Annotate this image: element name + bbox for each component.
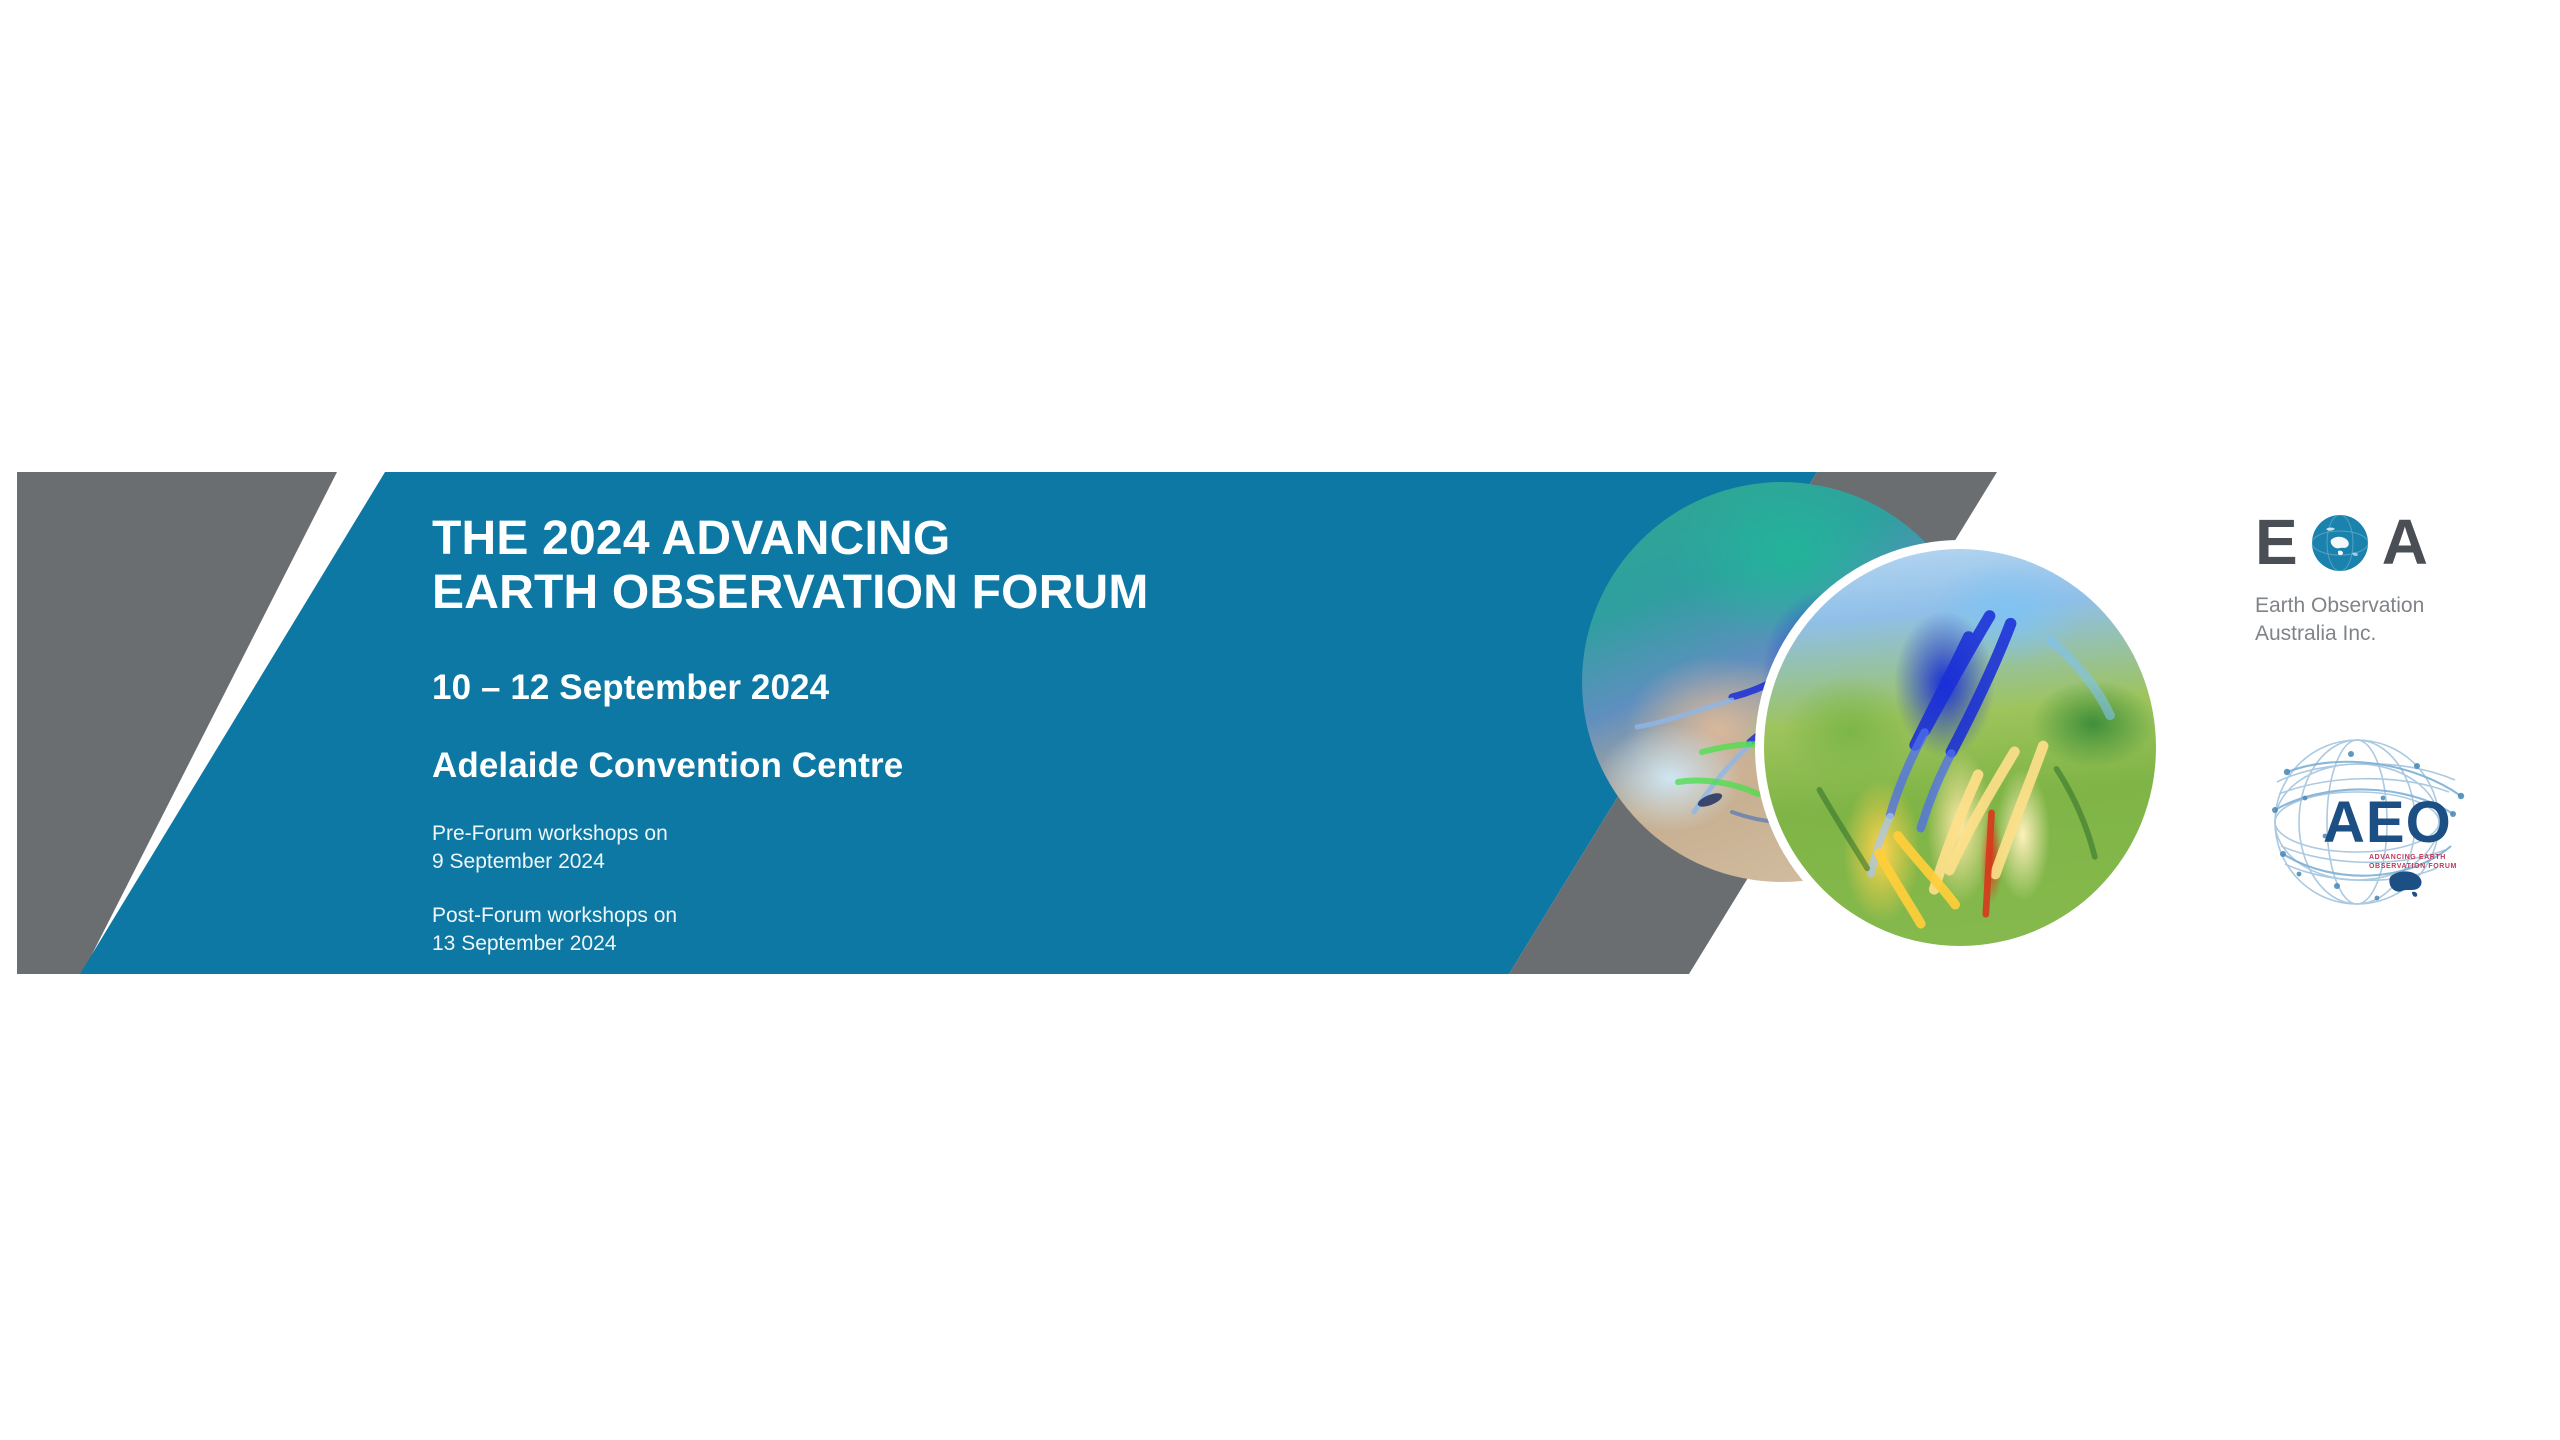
eoa-letter-a: A (2382, 514, 2428, 572)
aeo-wordmark: AEO (2323, 794, 2452, 852)
satellite-image-circle-front (1755, 540, 2165, 955)
globe-australia-icon (2312, 515, 2368, 571)
event-banner: THE 2024 ADVANCING EARTH OBSERVATION FOR… (17, 472, 2560, 974)
eoa-wordmark: E A (2255, 512, 2505, 574)
australia-shape-icon (2389, 871, 2421, 896)
event-venue: Adelaide Convention Centre (432, 708, 1332, 786)
post-forum-workshops: Post-Forum workshops on 13 September 202… (432, 876, 1332, 957)
event-title: THE 2024 ADVANCING EARTH OBSERVATION FOR… (432, 512, 1332, 620)
globe-australia-icon-svg (2312, 515, 2368, 571)
banner-text-block: THE 2024 ADVANCING EARTH OBSERVATION FOR… (432, 512, 1332, 957)
event-dates: 10 – 12 September 2024 (432, 620, 1332, 708)
aeo-subtitle: ADVANCING EARTH OBSERVATION FORUM (2369, 854, 2457, 872)
eoa-tagline: Earth Observation Australia Inc. (2255, 592, 2505, 647)
pre-forum-workshops: Pre-Forum workshops on 9 September 2024 (432, 786, 1332, 875)
satellite-image-veins-front (1764, 549, 2156, 946)
eoa-letter-e: E (2255, 514, 2298, 572)
eoa-logo[interactable]: E A Earth Observation Australia Inc. (2255, 512, 2505, 647)
aeo-logo[interactable]: AEO ADVANCING EARTH OBSERVATION FORUM (2265, 736, 2505, 911)
